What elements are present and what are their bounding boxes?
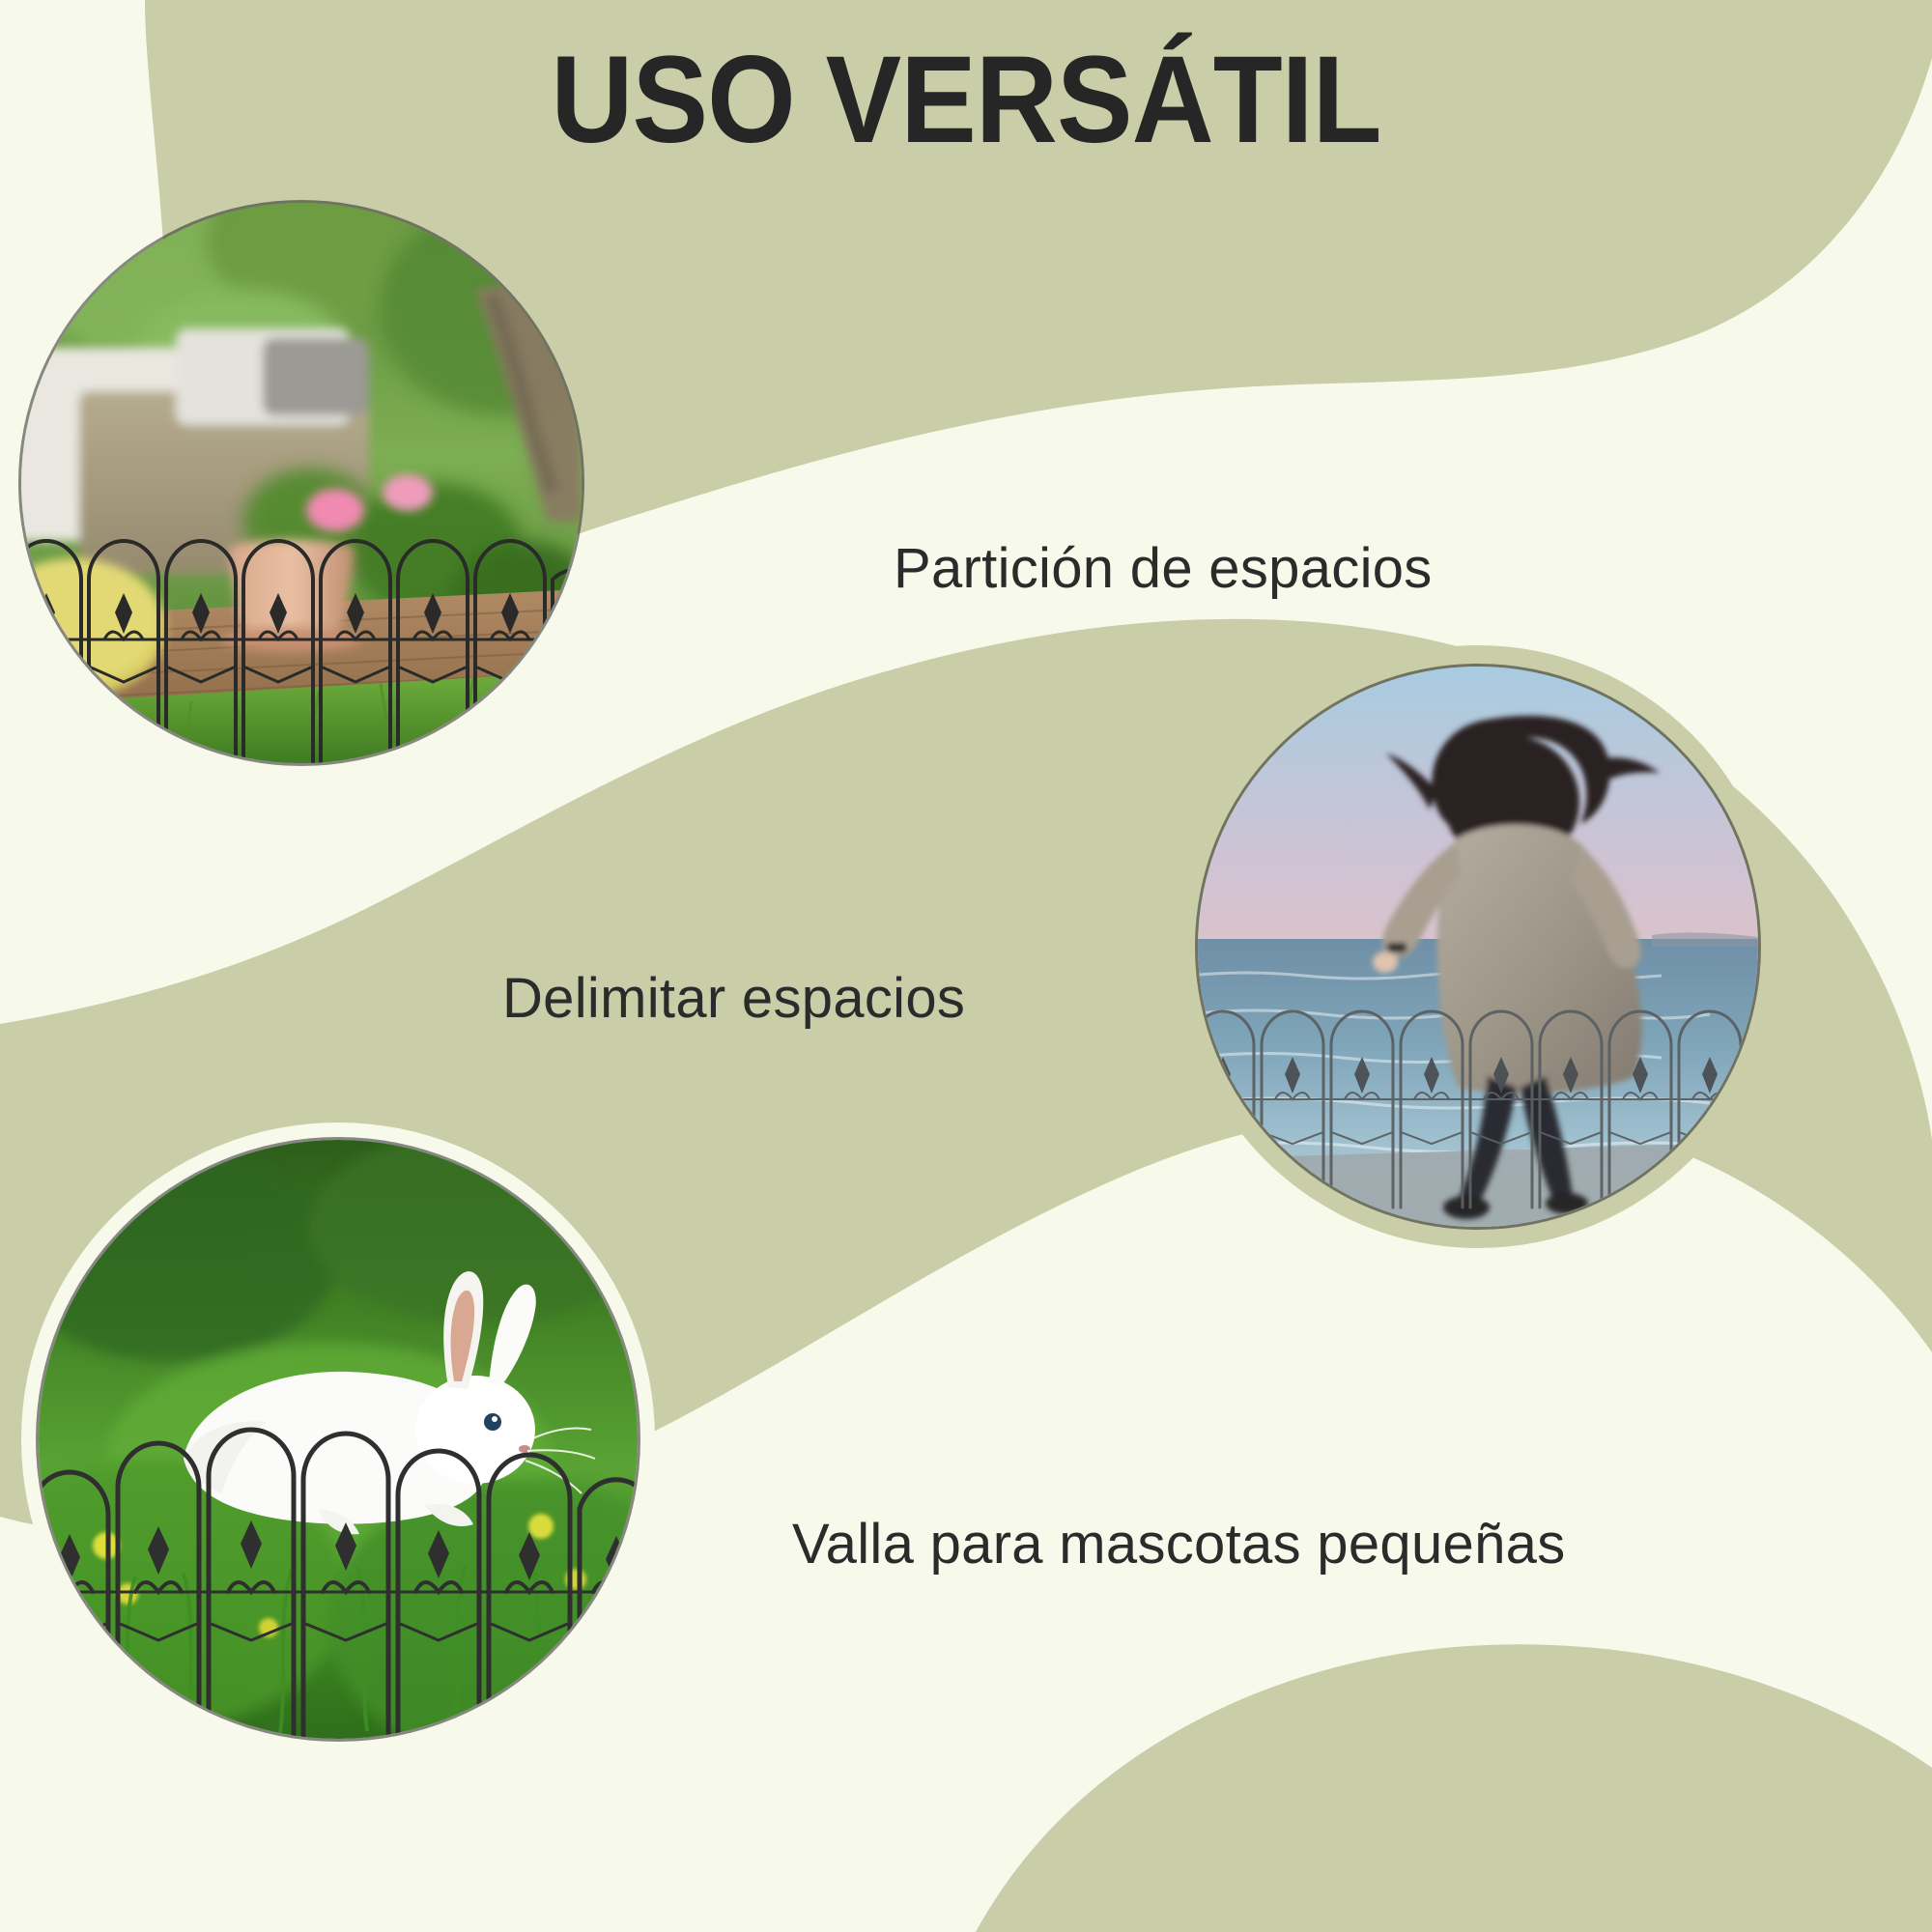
- feature-caption-particion: Partición de espacios: [894, 536, 1433, 601]
- infographic-canvas: USO VERSÁTIL: [0, 0, 1932, 1932]
- feature-caption-delimitar: Delimitar espacios: [502, 966, 965, 1031]
- garden-patio-fence-photo: [21, 203, 582, 763]
- white-rabbit-grass-fence-photo: [39, 1140, 638, 1739]
- feature-caption-mascotas: Valla para mascotas pequeñas: [792, 1512, 1566, 1577]
- page-title: USO VERSÁTIL: [77, 29, 1855, 171]
- seaside-walk-fence-photo: [1198, 667, 1758, 1227]
